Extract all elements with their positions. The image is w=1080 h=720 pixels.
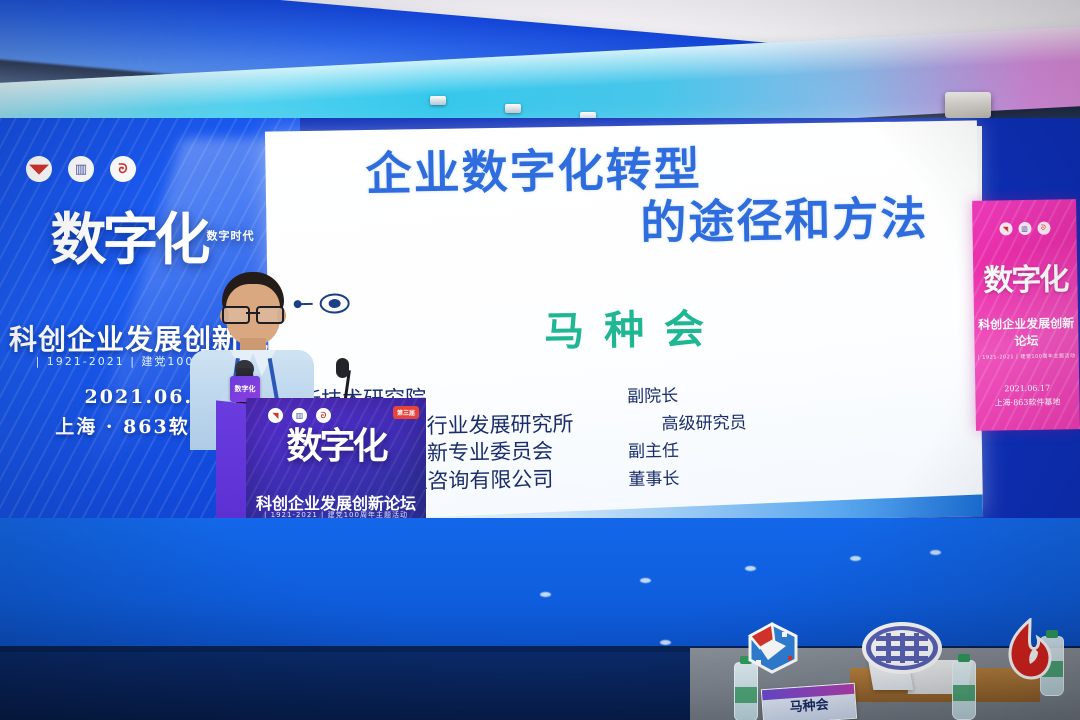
right-banner-stripe-texture: [972, 199, 1080, 431]
floor-marker: [640, 578, 651, 583]
floor-marker: [540, 592, 551, 597]
bottle-label: [735, 687, 757, 703]
front-table-name-card: 马种会: [761, 683, 857, 720]
credential-title: 高级研究员: [661, 412, 746, 436]
credential-title: 副主任: [628, 441, 679, 464]
shanghai-star-logo-icon: ◥◤: [26, 156, 52, 182]
red-flame-logo-icon: ᘒ: [110, 156, 136, 182]
floor-marker: [660, 640, 671, 645]
left-banner-brush-text: 数字化: [51, 207, 207, 273]
oval-grid-logo-icon: [860, 620, 944, 676]
shanghai-star-logo-icon: ◥: [268, 408, 283, 423]
red-flame-logo-icon: ᘒ: [316, 408, 331, 423]
bottle-label: [953, 685, 975, 701]
ceiling-spotlight-icon: [430, 96, 446, 105]
bottle-cap: [958, 654, 970, 662]
left-banner-logos: ◥◤ ▥ ᘒ: [26, 156, 136, 182]
podium-logos: ◥ ▥ ᘒ: [268, 408, 331, 423]
right-banner: ◥ ▥ ᘒ 数字化 科创企业发展创新论坛 | 1921-2021 | 建党100…: [972, 199, 1080, 431]
gooseneck-head: [336, 358, 349, 378]
water-bottle: [952, 660, 976, 720]
floor-marker: [930, 550, 941, 555]
ceiling-floodlight-icon: [945, 92, 991, 118]
floor-marker: [850, 556, 861, 561]
oval-grid-logo-icon: ▥: [68, 156, 94, 182]
ceiling-spotlight-icon: [505, 104, 521, 113]
left-banner-brush-mini: 数字时代: [207, 229, 255, 242]
slide-title-line1: 企业数字化转型: [365, 142, 702, 201]
floor-marker: [745, 566, 756, 571]
credential-title: 董事长: [628, 468, 679, 491]
left-banner-brush-title: 数字化数字时代: [20, 212, 285, 268]
slide-speaker-name: 马种会: [268, 292, 981, 361]
slide-title-line2: 的途径和方法: [366, 192, 947, 254]
slide-title: 企业数字化转型 的途径和方法: [365, 139, 947, 254]
podium-brush-title: 数字化: [246, 428, 426, 464]
oval-grid-logo-icon: ▥: [292, 408, 307, 423]
credential-title: 副院长: [627, 385, 678, 408]
red-flame-logo-icon: [1000, 618, 1054, 680]
podium-edition-badge: 第三届: [393, 406, 419, 419]
conference-photo-scene: ◥◤ ▥ ᘒ 数字化数字时代 科创企业发展创新论坛 | 1921-2021 | …: [0, 0, 1080, 720]
speaker-glasses-icon: [222, 306, 284, 321]
shanghai-star-logo-icon: [742, 616, 804, 678]
